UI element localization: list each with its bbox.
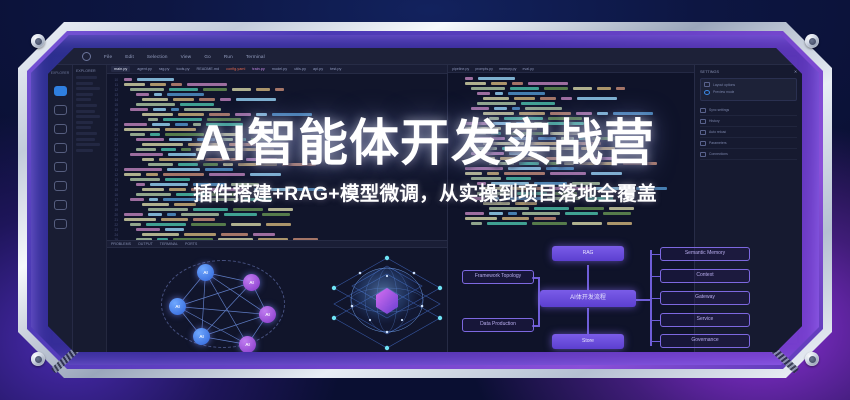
network-node[interactable]: AI bbox=[169, 298, 186, 315]
flow-right-item[interactable]: Gateway bbox=[660, 291, 750, 305]
network-node[interactable]: AI bbox=[239, 336, 256, 352]
settings-row-label: Sync settings bbox=[709, 108, 729, 112]
bottom-panel-tab[interactable]: PROBLEMS bbox=[111, 242, 131, 246]
menu-item-view[interactable]: View bbox=[181, 54, 192, 59]
circle-logo-icon bbox=[82, 52, 91, 61]
settings-row-label: Layout options bbox=[713, 83, 735, 87]
network-node[interactable]: AI bbox=[243, 274, 260, 291]
explorer-file-row[interactable] bbox=[76, 76, 97, 79]
flow-connector bbox=[636, 299, 650, 301]
account-icon[interactable] bbox=[54, 219, 67, 229]
flow-connector bbox=[650, 320, 660, 321]
bottom-panel-tab[interactable]: TERMINAL bbox=[160, 242, 178, 246]
bolt-top-left-icon bbox=[31, 34, 45, 48]
agent-network-graph: AI AI AI AI AI AI bbox=[155, 256, 291, 352]
settings-panel-title: SETTINGS bbox=[700, 70, 719, 74]
explorer-file-row[interactable] bbox=[76, 104, 97, 107]
bolt-bottom-left-icon bbox=[31, 352, 45, 366]
menu-item-file[interactable]: File bbox=[104, 54, 112, 59]
editor-tab[interactable]: test.py bbox=[330, 67, 341, 71]
flow-right-item[interactable]: Semantic Memory bbox=[660, 247, 750, 261]
settings-row-label: Preview mode bbox=[713, 90, 734, 94]
explorer-file-row[interactable] bbox=[76, 110, 95, 113]
explorer-title: EXPLORER bbox=[76, 69, 103, 73]
editor-tab[interactable]: main.py bbox=[111, 66, 130, 72]
secondary-editor-tab[interactable]: pipeline.py bbox=[452, 67, 469, 71]
flow-right-item[interactable]: Governance bbox=[660, 334, 750, 348]
ide-activity-bar: EXPLORER bbox=[48, 65, 73, 352]
flow-connector bbox=[587, 265, 589, 291]
editor-tab[interactable]: api.py bbox=[313, 67, 323, 71]
banner-headline: AI智能体开发实战营 插件搭建+RAG+模型微调，从实操到项目落地全覆盖 bbox=[0, 118, 850, 206]
bottom-panel-tab[interactable]: PORTS bbox=[185, 242, 197, 246]
activity-bar-label: EXPLORER bbox=[51, 71, 69, 75]
flow-connector bbox=[650, 341, 660, 342]
menu-item-run[interactable]: Run bbox=[224, 54, 233, 59]
flow-connector bbox=[650, 254, 660, 255]
editor-tab[interactable]: tools.py bbox=[176, 67, 189, 71]
flow-right-item[interactable]: Service bbox=[660, 313, 750, 327]
editor-tab[interactable]: model.py bbox=[272, 67, 287, 71]
flow-right-item[interactable]: Context bbox=[660, 269, 750, 283]
flow-connector bbox=[650, 276, 660, 277]
cloud-icon[interactable] bbox=[700, 108, 706, 113]
editor-tabbar: main.py agent.py rag.py tools.py README.… bbox=[107, 65, 447, 74]
close-icon[interactable]: ✕ bbox=[794, 69, 797, 74]
editor-tab[interactable]: README.md bbox=[197, 67, 220, 71]
network-node[interactable]: AI bbox=[193, 328, 210, 345]
ide-menubar: File Edit Selection View Go Run Terminal bbox=[48, 48, 802, 65]
bottom-panel-tab[interactable]: OUTPUT bbox=[138, 242, 153, 246]
flow-node-rag[interactable]: RAG bbox=[552, 246, 624, 261]
flow-node-framework-topology[interactable]: Framework Topology bbox=[462, 270, 534, 284]
flow-node-store[interactable]: Store bbox=[552, 334, 624, 349]
editor-tab[interactable]: train.py bbox=[252, 67, 264, 71]
menu-item-edit[interactable]: Edit bbox=[125, 54, 134, 59]
files-icon[interactable] bbox=[54, 86, 67, 96]
editor-tab[interactable]: rag.py bbox=[159, 67, 170, 71]
flow-node-data-production[interactable]: Data Production bbox=[462, 318, 534, 332]
menu-item-selection[interactable]: Selection bbox=[147, 54, 168, 59]
secondary-editor-tabbar: pipeline.py prompts.py memory.py eval.py bbox=[448, 65, 694, 73]
explorer-file-row[interactable] bbox=[76, 93, 93, 96]
flow-connector bbox=[650, 298, 660, 299]
flow-node-center[interactable]: AI体开发流程 bbox=[540, 290, 636, 307]
network-node[interactable]: AI bbox=[259, 306, 276, 323]
secondary-editor-tab[interactable]: prompts.py bbox=[475, 67, 493, 71]
ide-explorer-panel: EXPLORER bbox=[73, 65, 107, 352]
explorer-file-row[interactable] bbox=[76, 82, 93, 85]
page-title: AI智能体开发实战营 bbox=[0, 118, 850, 168]
bottom-panel-tabbar: PROBLEMS OUTPUT TERMINAL PORTS bbox=[107, 240, 447, 248]
secondary-editor-tab[interactable]: memory.py bbox=[499, 67, 517, 71]
settings-grid-block: Layout options Preview mode bbox=[700, 78, 797, 101]
explorer-file-row[interactable] bbox=[76, 98, 91, 101]
editor-tab[interactable]: config.yaml bbox=[226, 67, 245, 71]
editor-tab[interactable]: utils.py bbox=[294, 67, 306, 71]
bolt-top-right-icon bbox=[805, 34, 819, 48]
search-icon[interactable] bbox=[54, 105, 67, 115]
secondary-editor-tab[interactable]: eval.py bbox=[522, 67, 533, 71]
page-subtitle: 插件搭建+RAG+模型微调，从实操到项目落地全覆盖 bbox=[0, 177, 850, 206]
visualization-row: PROBLEMS OUTPUT TERMINAL PORTS bbox=[107, 240, 802, 352]
isometric-ai-core-graphic bbox=[322, 248, 452, 352]
flow-connector bbox=[587, 308, 589, 334]
eye-icon[interactable] bbox=[704, 90, 710, 95]
explorer-file-row[interactable] bbox=[76, 87, 100, 90]
menu-item-terminal[interactable]: Terminal bbox=[246, 54, 265, 59]
ai-core-svg bbox=[322, 248, 452, 352]
grid-icon[interactable] bbox=[704, 82, 710, 87]
editor-tab[interactable]: agent.py bbox=[137, 67, 152, 71]
network-node[interactable]: AI bbox=[197, 264, 214, 281]
menu-item-go[interactable]: Go bbox=[204, 54, 211, 59]
bolt-bottom-right-icon bbox=[805, 352, 819, 366]
architecture-flowchart: RAG AI体开发流程 Store Framework Topology Dat… bbox=[462, 244, 802, 352]
